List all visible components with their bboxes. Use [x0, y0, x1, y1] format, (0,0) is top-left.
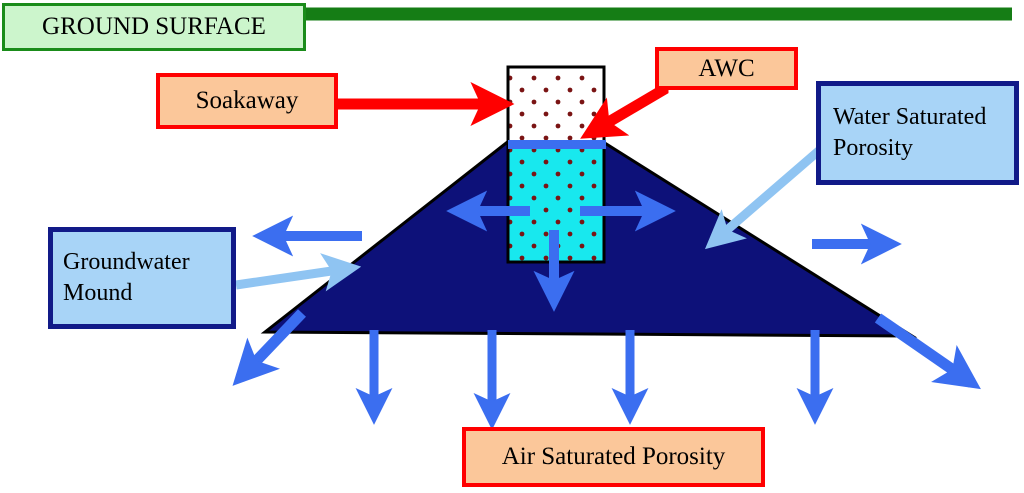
flow-arrow-diagonal-left	[240, 313, 302, 378]
pointer-water-saturated	[712, 148, 822, 243]
awc-callout: AWC	[655, 47, 798, 90]
flow-arrow-diagonal-right	[878, 318, 972, 383]
air-saturated-porosity-callout: Air Saturated Porosity	[462, 427, 765, 487]
soakaway-text: Soakaway	[196, 85, 299, 117]
air-saturated-porosity-text: Air Saturated Porosity	[502, 441, 726, 473]
groundwater-mound-line-1: Groundwater	[63, 247, 190, 278]
ground-surface-label: GROUND SURFACE	[2, 3, 306, 51]
diagram-canvas: GROUND SURFACE Soakaway AWC Water Satura…	[0, 0, 1024, 493]
awc-text: AWC	[698, 53, 754, 85]
groundwater-mound-line-2: Mound	[63, 278, 132, 309]
water-saturated-porosity-callout: Water Saturated Porosity	[816, 81, 1019, 185]
water-saturated-porosity-line-2: Porosity	[833, 133, 913, 164]
ground-surface-text: GROUND SURFACE	[42, 11, 266, 43]
soakaway-callout: Soakaway	[156, 73, 338, 129]
groundwater-mound-callout: Groundwater Mound	[48, 227, 236, 329]
water-saturated-porosity-line-1: Water Saturated	[833, 102, 986, 133]
water-table-line	[508, 140, 606, 149]
